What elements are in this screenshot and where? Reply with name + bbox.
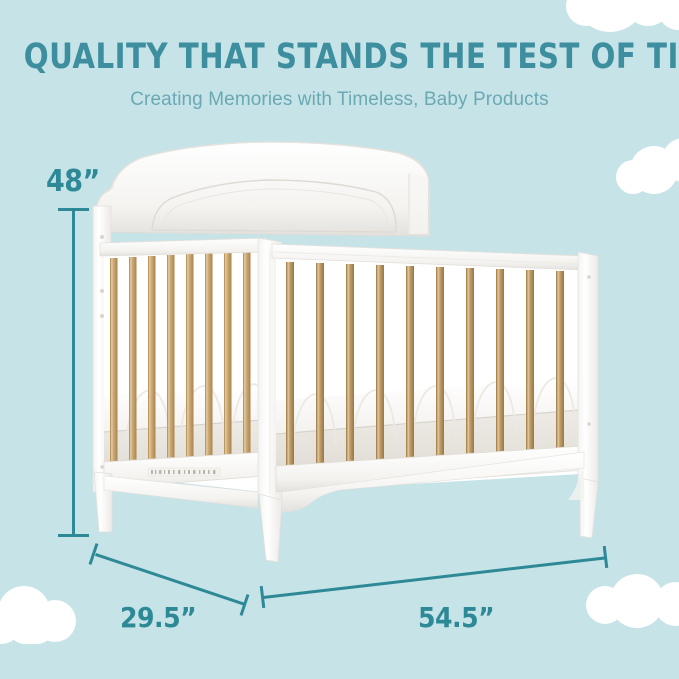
height-measure-cap-bottom: [58, 534, 89, 537]
crib-side-panel: [100, 238, 268, 492]
height-dimension-label: 48”: [46, 164, 100, 199]
depth-dimension-label: 29.5”: [120, 601, 196, 634]
page-title: QUALITY THAT STANDS THE TEST OF TIME: [24, 40, 655, 75]
header: QUALITY THAT STANDS THE TEST OF TIME Cre…: [0, 0, 679, 111]
height-measure-line: [72, 210, 75, 536]
page-subtitle: Creating Memories with Timeless, Baby Pr…: [0, 89, 679, 111]
crib-right-post: [578, 252, 598, 486]
crib-front-panel: [272, 244, 584, 492]
height-measure-cap-top: [58, 208, 89, 211]
crib-headboard: [96, 142, 429, 236]
marketing-image: QUALITY THAT STANDS THE TEST OF TIME Cre…: [0, 0, 679, 679]
width-dimension-label: 54.5”: [418, 601, 494, 634]
